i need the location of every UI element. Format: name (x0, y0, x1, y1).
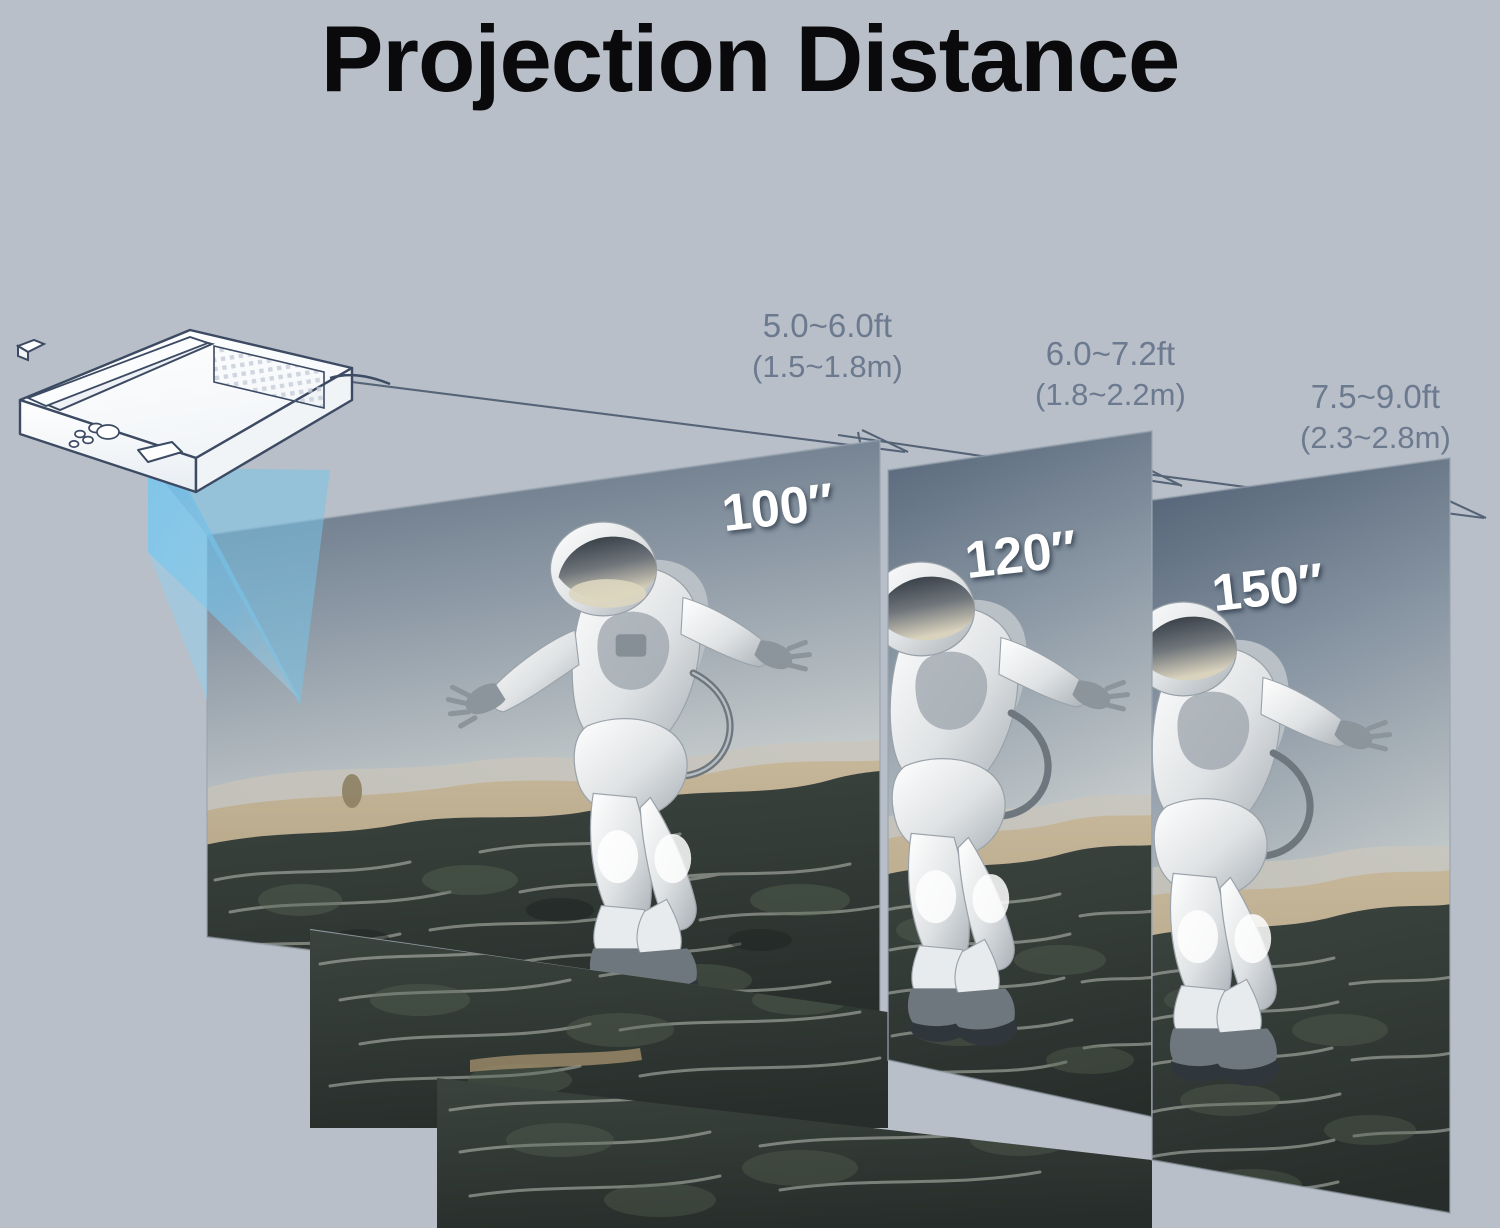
projector[interactable] (18, 330, 390, 492)
distance-meters-120: (1.8~2.2m) (1035, 375, 1186, 415)
distance-label-120: 6.0~7.2ft (1.8~2.2m) (1035, 333, 1186, 415)
distance-meters-100: (1.5~1.8m) (752, 347, 903, 387)
distance-feet-150: 7.5~9.0ft (1311, 378, 1440, 415)
infographic-canvas: Projection Distance (0, 0, 1500, 1228)
distance-feet-120: 6.0~7.2ft (1046, 335, 1175, 372)
screen-size-label-150: 150″ (1209, 552, 1327, 624)
distance-label-100: 5.0~6.0ft (1.5~1.8m) (752, 305, 903, 387)
screen-size-label-100: 100″ (719, 472, 837, 544)
distance-feet-100: 5.0~6.0ft (763, 307, 892, 344)
distance-label-150: 7.5~9.0ft (2.3~2.8m) (1300, 376, 1451, 458)
screen-size-label-120: 120″ (962, 519, 1080, 591)
distance-meters-150: (2.3~2.8m) (1300, 418, 1451, 458)
dimension-line-100 (336, 380, 905, 452)
